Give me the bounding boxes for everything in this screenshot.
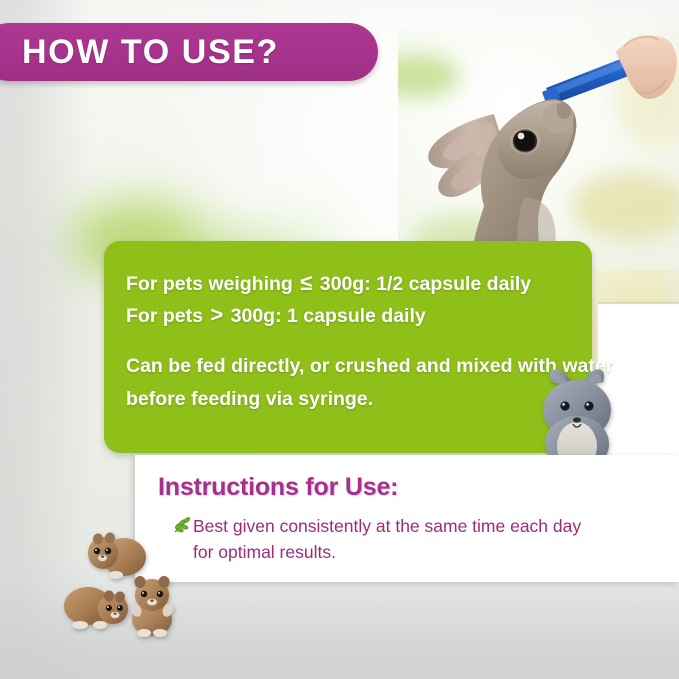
less-than-or-equal-icon: ≤: [298, 270, 314, 295]
rabbit-hero-image: [398, 30, 679, 270]
leaf-icon: [172, 515, 192, 535]
hamster-image: [86, 529, 148, 581]
banner-title: HOW TO USE?: [22, 33, 279, 72]
dosage-line-2: For pets > 300g: 1 capsule daily: [126, 302, 426, 328]
dosage-note-line-2: before feeding via syringe.: [126, 388, 373, 411]
hamster-image: [122, 575, 182, 637]
dosage-line-2-suffix: 300g: 1 capsule daily: [231, 305, 426, 327]
dosage-line-2-prefix: For pets: [126, 305, 203, 327]
hamster-image: [62, 580, 130, 630]
greater-than-icon: >: [208, 302, 225, 327]
instructions-panel: Instructions for Use: Best given consist…: [135, 455, 679, 582]
how-to-use-banner: HOW TO USE?: [0, 23, 378, 81]
dosage-line-1-prefix: For pets weighing: [126, 273, 293, 295]
dosage-line-1: For pets weighing ≤ 300g: 1/2 capsule da…: [126, 270, 531, 296]
instructions-bullet-text: Best given consistently at the same time…: [193, 513, 581, 565]
how-to-use-poster: HOW TO USE? For pets weighing ≤ 300g: 1/…: [0, 0, 679, 679]
instructions-title: Instructions for Use:: [158, 473, 398, 502]
dosage-line-1-suffix: 300g: 1/2 capsule daily: [320, 273, 531, 295]
rabbit-illustration: [398, 30, 679, 270]
dosage-card: For pets weighing ≤ 300g: 1/2 capsule da…: [104, 241, 592, 453]
instructions-bullet-row: Best given consistently at the same time…: [172, 513, 672, 565]
